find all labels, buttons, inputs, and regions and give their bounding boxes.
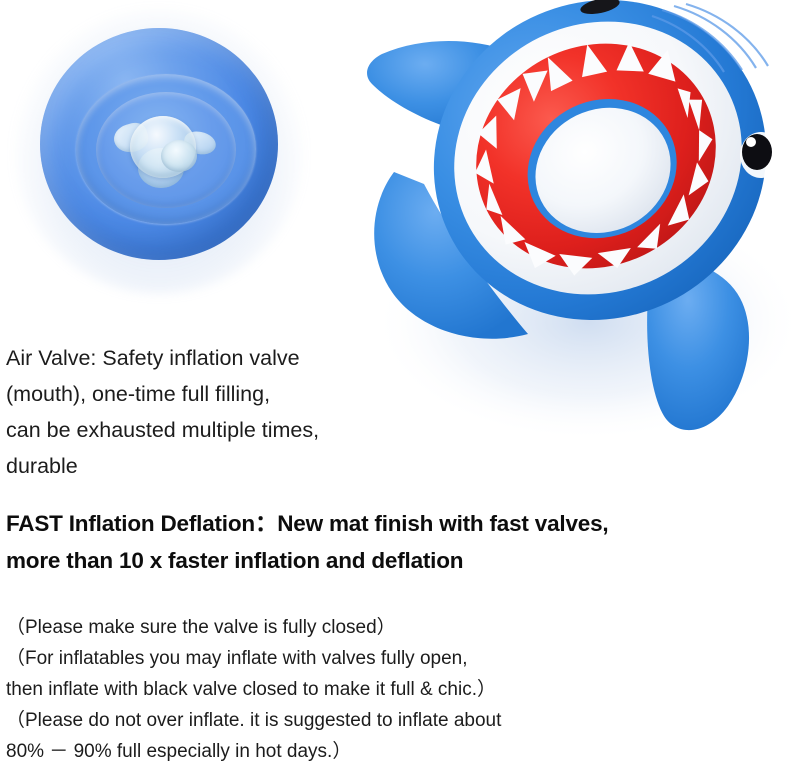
note-line: （Please make sure the valve is fully clo… <box>6 612 796 643</box>
note-line: then inflate with black valve closed to … <box>6 674 796 705</box>
headline-line: more than 10 x faster inflation and defl… <box>6 542 796 579</box>
note-line: 80% － 90% full especially in hot days.） <box>6 736 796 767</box>
clear-valve-plug <box>114 106 218 192</box>
valve-cap-core <box>161 140 197 172</box>
headline-line: FAST Inflation Deflation：New mat finish … <box>6 505 796 542</box>
eye-highlight <box>746 137 756 147</box>
valve-cap <box>130 116 196 178</box>
note-line: （For inflatables you may inflate with va… <box>6 643 796 674</box>
usage-notes: （Please make sure the valve is fully clo… <box>6 612 796 767</box>
eye-pupil <box>742 134 772 170</box>
inflatable-disc <box>40 28 278 260</box>
valve-closeup-image <box>32 22 282 272</box>
note-line: （Please do not over inflate. it is sugge… <box>6 705 796 736</box>
caption-line: durable <box>6 448 436 484</box>
valve-caption: Air Valve: Safety inflation valve (mouth… <box>6 340 436 484</box>
shark-eye <box>740 132 782 178</box>
headline: FAST Inflation Deflation：New mat finish … <box>6 505 796 579</box>
caption-line: (mouth), one-time full filling, <box>6 376 436 412</box>
caption-line: can be exhausted multiple times, <box>6 412 436 448</box>
caption-line: Air Valve: Safety inflation valve <box>6 340 436 376</box>
